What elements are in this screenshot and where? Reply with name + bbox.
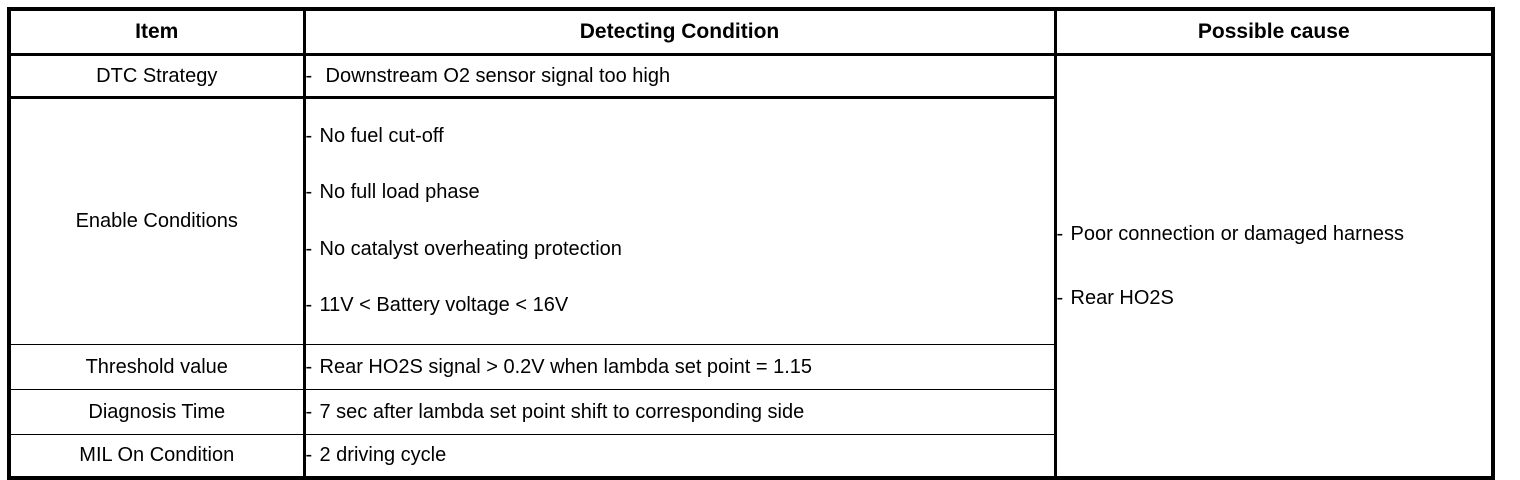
item-label-threshold-value: Threshold value bbox=[9, 345, 304, 390]
possible-cause-cell: -Poor connection or damaged harness -Rea… bbox=[1055, 55, 1493, 478]
condition-text: No full load phase bbox=[320, 181, 480, 203]
bullet-dash-icon: - bbox=[1057, 224, 1071, 244]
bullet-dash-icon: - bbox=[306, 126, 320, 146]
column-header-item: Item bbox=[9, 9, 304, 55]
bullet-dash-icon: - bbox=[306, 295, 320, 315]
table-row-dtc-strategy: DTC Strategy -Downstream O2 sensor signa… bbox=[9, 55, 1493, 98]
bullet-dash-icon: - bbox=[306, 182, 320, 202]
header-row: Item Detecting Condition Possible cause bbox=[9, 9, 1493, 55]
possible-cause-text: Poor connection or damaged harness bbox=[1071, 223, 1405, 245]
bullet-dash-icon: - bbox=[306, 239, 320, 259]
condition-line: -Rear HO2S signal > 0.2V when lambda set… bbox=[306, 357, 1054, 378]
page-root: Item Detecting Condition Possible cause … bbox=[0, 0, 1520, 480]
table-body: DTC Strategy -Downstream O2 sensor signa… bbox=[9, 55, 1493, 478]
condition-line: -Downstream O2 sensor signal too high bbox=[306, 66, 1054, 87]
condition-line: -No catalyst overheating protection bbox=[306, 239, 1054, 259]
item-label-dtc-strategy: DTC Strategy bbox=[9, 55, 304, 98]
condition-line: -2 driving cycle bbox=[306, 445, 1054, 466]
possible-cause-item: -Poor connection or damaged harness bbox=[1057, 224, 1492, 244]
condition-text: 2 driving cycle bbox=[320, 444, 447, 466]
condition-text: No fuel cut-off bbox=[320, 125, 444, 147]
table-header: Item Detecting Condition Possible cause bbox=[9, 9, 1493, 55]
possible-cause-item: -Rear HO2S bbox=[1057, 288, 1492, 308]
bullet-dash-icon: - bbox=[306, 402, 320, 423]
condition-text: 11V < Battery voltage < 16V bbox=[320, 294, 569, 316]
condition-cell-enable-conditions: -No fuel cut-off -No full load phase -No… bbox=[304, 98, 1055, 345]
condition-text: No catalyst overheating protection bbox=[320, 238, 622, 260]
condition-line: -7 sec after lambda set point shift to c… bbox=[306, 402, 1054, 423]
dtc-diagnostic-table: Item Detecting Condition Possible cause … bbox=[7, 7, 1495, 480]
bullet-dash-icon: - bbox=[306, 445, 320, 466]
condition-line: -No full load phase bbox=[306, 182, 1054, 202]
column-header-possible-cause: Possible cause bbox=[1055, 9, 1493, 55]
condition-text: Rear HO2S signal > 0.2V when lambda set … bbox=[320, 356, 813, 378]
item-label-diagnosis-time: Diagnosis Time bbox=[9, 390, 304, 435]
condition-list: -No fuel cut-off -No full load phase -No… bbox=[306, 116, 1054, 328]
column-header-detecting-condition: Detecting Condition bbox=[304, 9, 1055, 55]
possible-cause-text: Rear HO2S bbox=[1071, 287, 1174, 309]
condition-text: 7 sec after lambda set point shift to co… bbox=[320, 401, 805, 423]
bullet-dash-icon: - bbox=[1057, 288, 1071, 308]
possible-cause-list: -Poor connection or damaged harness -Rea… bbox=[1057, 56, 1492, 476]
bullet-dash-icon: - bbox=[306, 357, 320, 378]
condition-cell-diagnosis-time: -7 sec after lambda set point shift to c… bbox=[304, 390, 1055, 435]
condition-line: -No fuel cut-off bbox=[306, 126, 1054, 146]
item-label-enable-conditions: Enable Conditions bbox=[9, 98, 304, 345]
condition-text: Downstream O2 sensor signal too high bbox=[326, 65, 671, 87]
item-label-mil-on-condition: MIL On Condition bbox=[9, 435, 304, 478]
condition-cell-dtc-strategy: -Downstream O2 sensor signal too high bbox=[304, 55, 1055, 98]
condition-line: -11V < Battery voltage < 16V bbox=[306, 295, 1054, 315]
condition-cell-threshold-value: -Rear HO2S signal > 0.2V when lambda set… bbox=[304, 345, 1055, 390]
condition-cell-mil-on-condition: -2 driving cycle bbox=[304, 435, 1055, 478]
bullet-dash-icon: - bbox=[306, 66, 326, 87]
